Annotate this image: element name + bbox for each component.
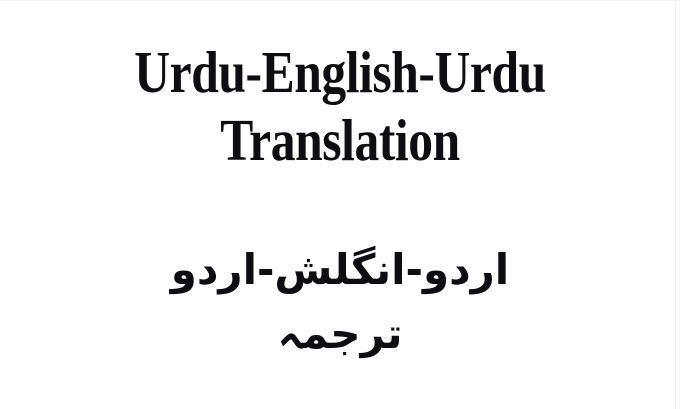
english-title-line-1: Urdu-English-Urdu (54, 38, 625, 106)
english-title-line-2: Translation (54, 106, 625, 174)
title-card-canvas: Urdu-English-Urdu Translation اردو-انگلش… (0, 0, 680, 409)
urdu-title-line-1: اردو-انگلش-اردو (0, 238, 680, 302)
urdu-title-line-2: ترجمہ (0, 302, 680, 366)
english-title: Urdu-English-Urdu Translation (0, 38, 680, 174)
page-edge-top (0, 0, 680, 1)
urdu-title: اردو-انگلش-اردو ترجمہ (0, 238, 680, 366)
